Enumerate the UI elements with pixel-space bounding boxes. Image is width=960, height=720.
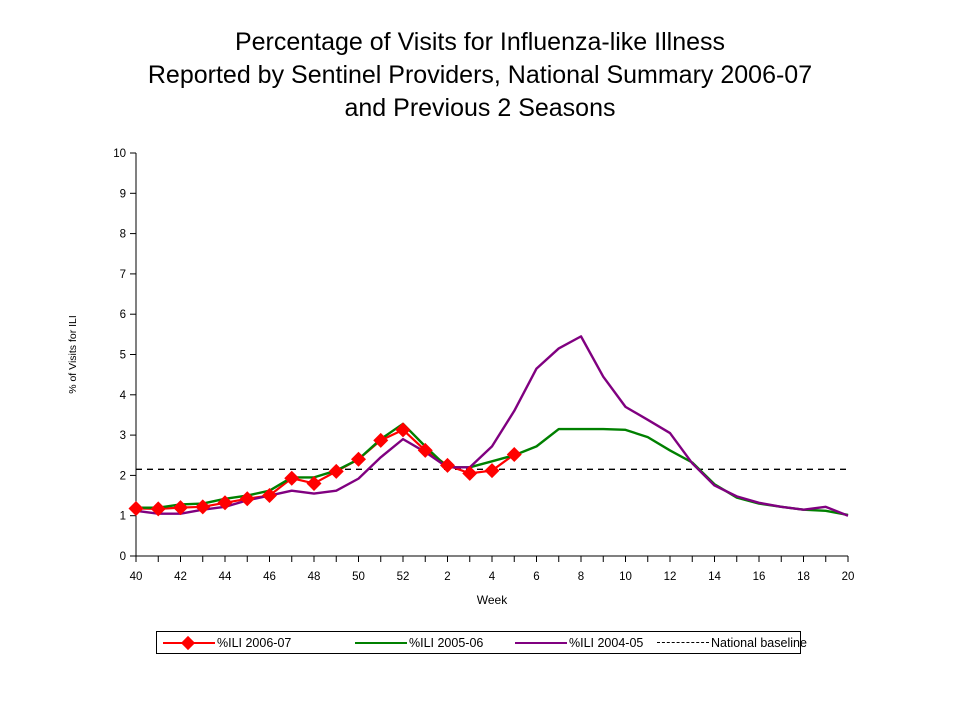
x-axis-ticks: 404244464850522468101214161820 (130, 556, 855, 583)
legend-item-1: %ILI 2006-07 (163, 632, 291, 653)
data-point-marker (440, 458, 455, 473)
chart-page: Percentage of Visits for Influenza-like … (0, 0, 960, 720)
x-axis-title: Week (477, 593, 508, 607)
y-tick-label: 6 (120, 309, 126, 321)
x-tick-label: 20 (842, 571, 855, 583)
dashed-line-icon (657, 642, 709, 643)
x-tick-label: 48 (308, 571, 321, 583)
legend-swatch-icon (657, 636, 709, 650)
x-tick-label: 44 (219, 571, 232, 583)
x-tick-label: 16 (753, 571, 766, 583)
y-tick-label: 9 (120, 188, 126, 200)
legend-item-2: %ILI 2005-06 (355, 632, 483, 653)
legend-item-3: %ILI 2004-05 (515, 632, 643, 653)
solid-line-icon (355, 642, 407, 644)
legend-label: %ILI 2005-06 (407, 636, 483, 650)
x-tick-label: 40 (130, 571, 143, 583)
legend-swatch-icon (163, 636, 215, 650)
data-series-group (136, 336, 848, 515)
y-axis-ticks: 012345678910 (113, 148, 136, 563)
legend-swatch-icon (355, 636, 407, 650)
legend-swatch-icon (515, 636, 567, 650)
y-tick-label: 7 (120, 269, 126, 281)
line-chart: 012345678910 404244464850522468101214161… (0, 0, 960, 720)
chart-legend: %ILI 2006-07%ILI 2005-06%ILI 2004-05Nati… (156, 631, 801, 654)
y-axis-title: % of Visits for ILI (67, 315, 79, 394)
legend-item-4: National baseline (657, 632, 807, 653)
solid-line-icon (515, 642, 567, 644)
y-tick-label: 0 (120, 551, 126, 563)
x-tick-label: 10 (619, 571, 632, 583)
legend-label: National baseline (709, 636, 807, 650)
x-tick-label: 46 (263, 571, 276, 583)
data-point-marker (129, 501, 144, 516)
legend-label: %ILI 2006-07 (215, 636, 291, 650)
data-point-marker (507, 447, 522, 462)
data-point-marker (329, 464, 344, 479)
y-tick-label: 10 (113, 148, 126, 160)
data-point-marker (485, 463, 500, 478)
x-tick-label: 18 (797, 571, 810, 583)
diamond-marker-icon (181, 635, 195, 649)
legend-label: %ILI 2004-05 (567, 636, 643, 650)
y-tick-label: 4 (120, 390, 127, 402)
y-tick-label: 3 (120, 430, 126, 442)
y-tick-label: 8 (120, 229, 126, 241)
series-line-3 (136, 336, 848, 515)
y-tick-label: 1 (120, 511, 126, 523)
x-tick-label: 8 (578, 571, 584, 583)
x-tick-label: 14 (708, 571, 721, 583)
x-tick-label: 12 (664, 571, 677, 583)
chart-plot-area: 012345678910 404244464850522468101214161… (0, 0, 960, 720)
y-tick-label: 5 (120, 350, 126, 362)
x-tick-label: 42 (174, 571, 187, 583)
x-tick-label: 4 (489, 571, 496, 583)
x-tick-label: 52 (397, 571, 410, 583)
y-tick-label: 2 (120, 470, 126, 482)
legend-entries: %ILI 2006-07%ILI 2005-06%ILI 2004-05Nati… (157, 632, 800, 653)
x-tick-label: 6 (533, 571, 539, 583)
x-tick-label: 50 (352, 571, 365, 583)
x-tick-label: 2 (444, 571, 450, 583)
